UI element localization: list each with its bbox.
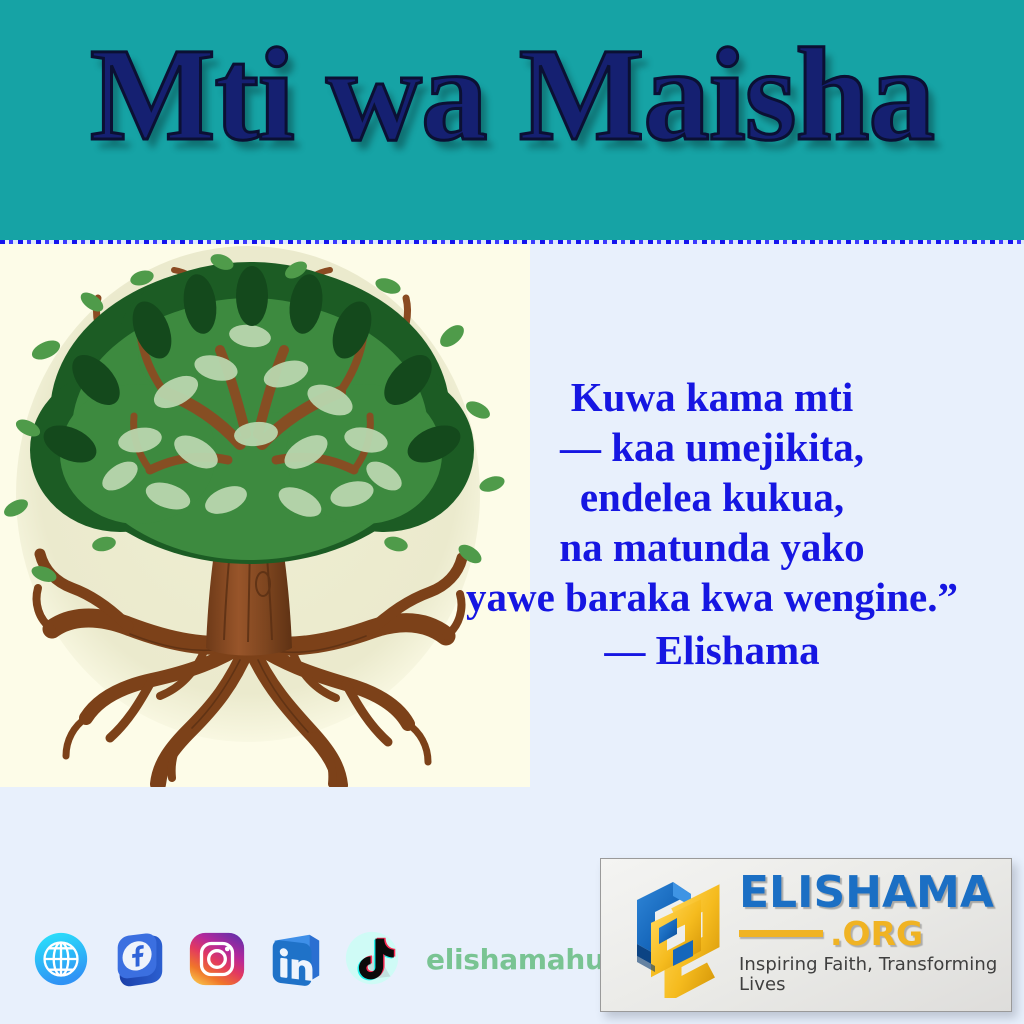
brand-logo-card[interactable]: ELISHAMA .ORG Inspiring Faith, Transform… (600, 858, 1012, 1012)
quote-attribution: — Elishama (404, 622, 1020, 678)
linkedin-icon[interactable] (264, 928, 326, 990)
logo-org-suffix: .ORG (830, 917, 923, 950)
header-band: Mti wa Maisha (0, 0, 1024, 240)
quote-line-1: Kuwa kama mti (404, 372, 1020, 422)
social-links-row: elishamahubi (30, 928, 634, 990)
quote-line-3: endelea kukua, (404, 472, 1020, 522)
page-title: Mti wa Maisha (0, 28, 1024, 161)
globe-icon[interactable] (30, 928, 92, 990)
logo-tagline: Inspiring Faith, Transforming Lives (739, 955, 1001, 995)
facebook-icon[interactable] (108, 928, 170, 990)
quote-line-5: yawe baraka kwa wengine.” (404, 572, 1020, 622)
instagram-icon[interactable] (186, 928, 248, 990)
logo-wordmark: ELISHAMA (739, 871, 1001, 915)
logo-text-group: ELISHAMA .ORG Inspiring Faith, Transform… (733, 871, 1001, 995)
quote-line-4: na matunda yako (404, 522, 1020, 572)
quote-block: Kuwa kama mti — kaa umejikita, endelea k… (404, 372, 1020, 678)
logo-rule (739, 930, 823, 937)
elishama-logo-mark-icon (615, 872, 733, 998)
poster-canvas: Mti wa Maisha (0, 0, 1024, 1024)
quote-line-2: — kaa umejikita, (404, 422, 1020, 472)
tiktok-icon[interactable] (342, 928, 404, 990)
logo-org-row: .ORG (739, 917, 1001, 950)
